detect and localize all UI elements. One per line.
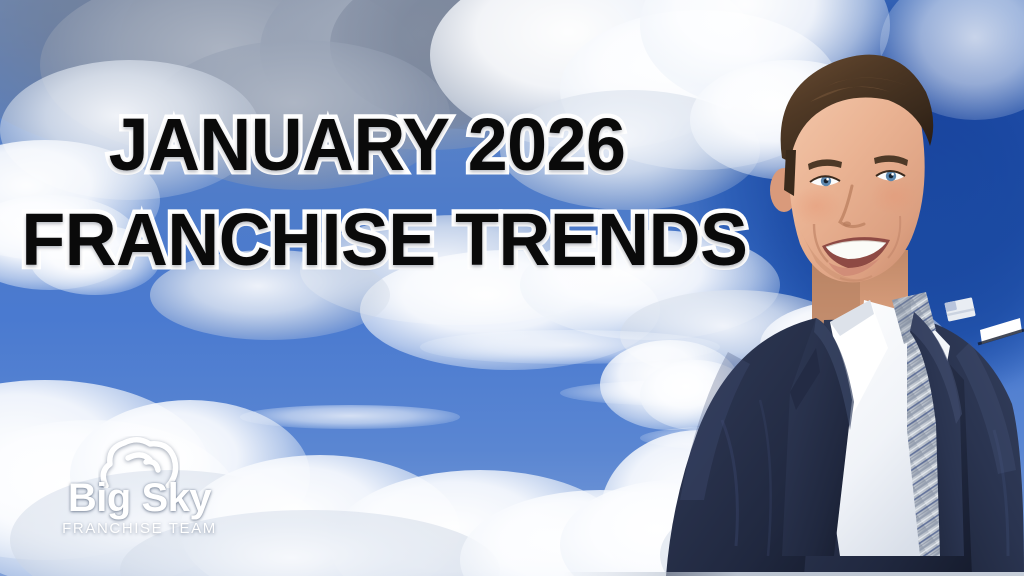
bottom-rule bbox=[0, 572, 1024, 576]
american-flag-lapel-pin bbox=[944, 297, 975, 321]
big-sky-logo[interactable]: Big Sky FRANCHISE TEAM bbox=[52, 436, 227, 546]
video-thumbnail: JANUARY 2026 FRANCHISE TRENDS bbox=[0, 0, 1024, 576]
presenter-portrait bbox=[664, 0, 1024, 576]
title-line-1: JANUARY 2026 bbox=[0, 108, 747, 182]
cheek-left bbox=[790, 186, 842, 226]
head bbox=[770, 55, 933, 283]
sideburn bbox=[784, 150, 796, 196]
logo-brand-text: Big Sky bbox=[52, 478, 227, 518]
title-block: JANUARY 2026 FRANCHISE TRENDS bbox=[0, 108, 770, 277]
logo-tagline-text: FRANCHISE TEAM bbox=[52, 521, 227, 536]
cheek-right bbox=[870, 177, 918, 215]
nostril bbox=[843, 221, 851, 226]
title-line-2: FRANCHISE TRENDS bbox=[0, 203, 747, 277]
